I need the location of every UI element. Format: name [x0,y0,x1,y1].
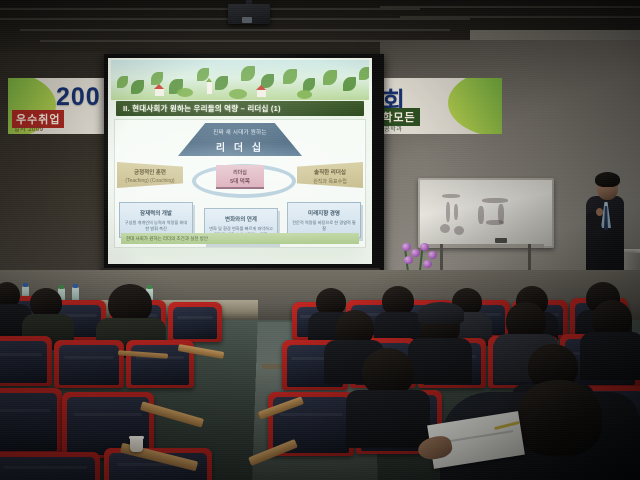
ceiling-projector-icon [228,4,270,24]
roof-heading: 리 더 십 [178,139,302,154]
foreground-attendee-head [516,380,602,456]
orchid-bloom [420,243,429,251]
cap-icon [418,302,464,324]
wing-left-label: 긍정적인 훈련 [117,168,183,176]
diagram-wing-right: 솔직한 리더십 원칙과 목표수립 [297,162,363,188]
projector-lens-icon [242,17,252,23]
paper-cup [130,438,143,452]
diagram-wing-left: 긍정적인 훈련 (Teaching) (Coaching) [117,162,183,188]
lecture-hall-photo: 200 우수취업 일시 2009 수회 공전학모든 학교 환경공학과 [0,0,640,480]
seat [168,302,222,342]
orchid-bloom [423,260,432,268]
orchid-bloom [402,243,411,251]
seat [0,388,62,454]
hub-line1: 리더십 [216,169,264,176]
slide-title: II. 현대사회가 원하는 우리들의 역량 – 리더십 (1) [116,101,364,116]
box-1-title: 잠재력의 개발 [120,209,192,217]
presenter-hand [596,208,603,216]
box-2-title: 변화와의 연계 [205,215,277,223]
seat [0,336,52,386]
wing-left-sub: (Teaching) (Coaching) [117,178,183,184]
seat [0,452,100,480]
slide-diagram: 진짜 새 시대가 원하는 리 더 십 긍정적인 훈련 (Teaching) (C… [114,119,366,248]
orchid-bloom [411,249,420,257]
banner-left-title: 200 [56,83,101,112]
box-1-detail: 구성원 개개인의 능력과 역량을 최대한 발휘 촉진 [120,220,192,233]
box-3-detail: 전문적 역량을 바탕으로 한 경영적 통찰 [288,220,360,233]
roof-subtitle: 진짜 새 시대가 원하는 [178,128,302,136]
box-3-title: 미래지향 경영 [288,209,360,217]
banner-left-date: 일시 2009 [14,124,44,133]
diagram-hub: 리더십 5대 덕목 [216,165,264,189]
orchid-bloom [428,251,437,259]
projected-slide: II. 현대사회가 원하는 우리들의 역량 – 리더십 (1) 진짜 새 시대가… [108,58,372,264]
whiteboard-eraser [495,238,507,243]
banner-swoosh-icon [448,78,502,134]
wing-right-sub: 원칙과 목표수립 [297,178,363,185]
presenter-hair [595,172,620,187]
slide-header-illustration [111,60,369,100]
wing-right-label: 솔직한 리더십 [297,168,363,176]
hub-line2: 5대 덕목 [216,177,264,185]
whiteboard [418,178,554,248]
slide-footer: 현대 사회가 원하는 리더의 조건과 실천 방안 [121,233,359,244]
orchid-bloom [404,256,413,264]
seat [54,340,124,388]
diagram-roof: 진짜 새 시대가 원하는 리 더 십 [178,123,302,156]
